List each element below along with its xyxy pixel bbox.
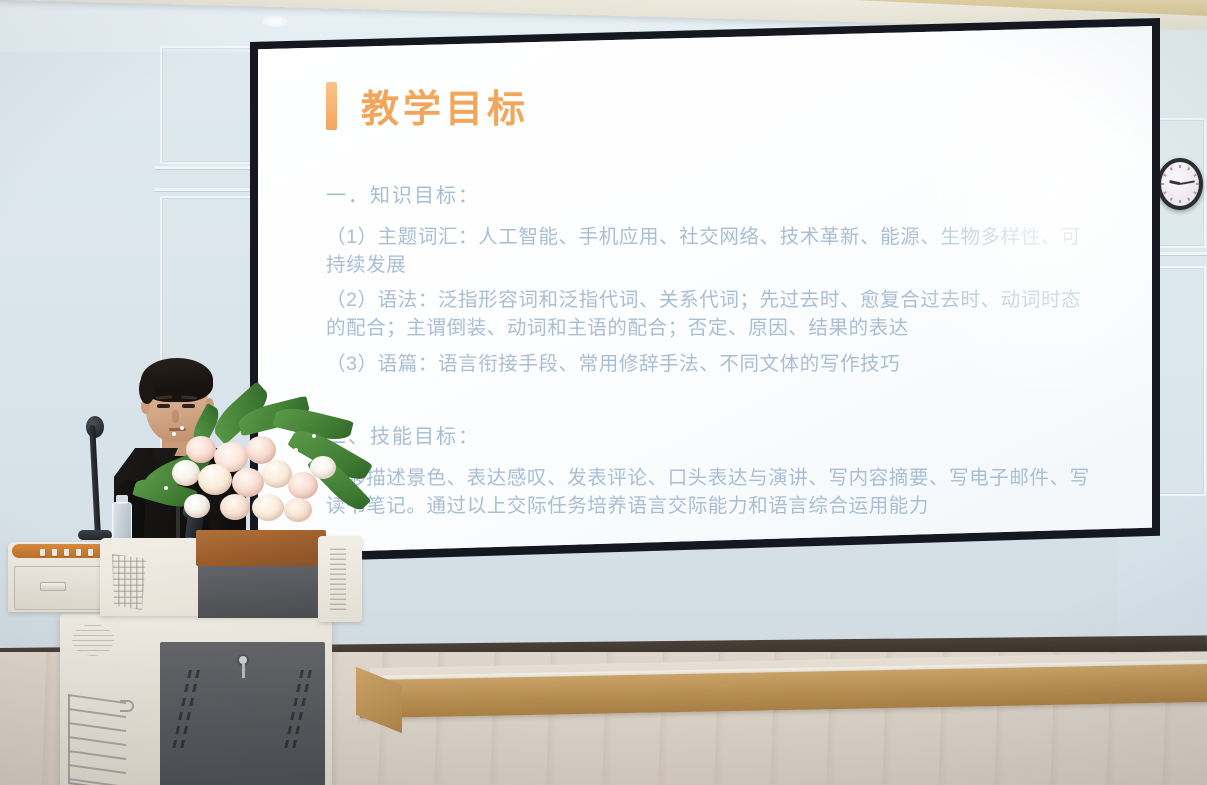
slide-body: 一．知识目标： （1）主题词汇：人工智能、手机应用、社交网络、技术革新、能源、生… (326, 179, 1094, 521)
rose-bloom (232, 468, 264, 497)
podium-control-panel[interactable] (12, 544, 112, 558)
podium-drawer-handle[interactable] (40, 582, 66, 591)
clock-face (1161, 162, 1199, 206)
slide-title-row: 教学目标 (326, 78, 1094, 133)
projection-screen[interactable]: 教学目标 一．知识目标： （1）主题词汇：人工智能、手机应用、社交网络、技术革新… (258, 26, 1152, 554)
clock-tick (1187, 167, 1190, 171)
podium-door-lock[interactable] (239, 656, 247, 664)
podium-basket-hook (120, 700, 134, 712)
slide-title: 教学目标 (361, 78, 529, 133)
filler-flower (294, 448, 298, 452)
filler-flower (324, 486, 328, 490)
clock-tick (1193, 174, 1197, 177)
filler-flower (280, 442, 284, 446)
knowledge-point-1: （1）主题词汇：人工智能、手机应用、社交网络、技术革新、能源、生物多样性、可持续… (326, 224, 1094, 279)
rose-bloom (184, 494, 210, 518)
wall-clock (1157, 158, 1203, 210)
rose-bloom (252, 494, 284, 521)
podium-door-lock-stem (242, 664, 245, 678)
section-heading-skills: 二、技能目标： (326, 420, 1094, 449)
podium-wood-planter (196, 530, 326, 566)
rose-bloom (284, 498, 312, 522)
wall-moulding-panel (160, 46, 258, 164)
clock-tick (1193, 191, 1197, 194)
clock-tick (1163, 191, 1167, 194)
clock-tick (1179, 200, 1181, 203)
filler-flower (180, 426, 184, 430)
podium-control-button[interactable] (88, 549, 93, 556)
presentation-slide: 教学目标 一．知识目标： （1）主题词汇：人工智能、手机应用、社交网络、技术革新… (258, 26, 1152, 554)
podium-wire-basket (68, 694, 126, 785)
clock-tick (1179, 165, 1181, 168)
podium-side-vent (72, 624, 114, 656)
rose-bloom (310, 456, 336, 479)
section-heading-knowledge: 一．知识目标： (326, 179, 1094, 208)
podium-control-button[interactable] (76, 549, 81, 556)
lecture-hall-photo: 教学目标 一．知识目标： （1）主题词汇：人工智能、手机应用、社交网络、技术革新… (0, 0, 1207, 785)
flower-arrangement (128, 398, 388, 543)
wall-moulding-line (155, 188, 260, 191)
rose-bloom (186, 436, 216, 463)
podium-control-button[interactable] (64, 549, 69, 556)
clock-hour-hand (1169, 180, 1180, 185)
clock-tick (1187, 197, 1190, 201)
section-spacer (326, 388, 1094, 420)
clock-tick (1163, 174, 1167, 177)
multimedia-podium (0, 530, 380, 785)
title-accent-bar (326, 82, 337, 130)
clock-tick (1196, 183, 1199, 185)
ceiling-downlight (262, 16, 288, 27)
rose-bloom (172, 460, 200, 486)
filler-flower (172, 432, 176, 436)
rose-bloom (198, 464, 232, 495)
clock-tick (1170, 197, 1173, 201)
knowledge-point-3: （3）语篇：语言衔接手段、常用修辞手法、不同文体的写作技巧 (326, 351, 1094, 379)
filler-flower (312, 434, 316, 438)
presenter-hair (141, 358, 213, 402)
clock-minute-hand (1180, 180, 1195, 185)
clock-tick (1161, 183, 1164, 185)
wall-moulding-line (155, 166, 260, 169)
rose-bloom (220, 494, 250, 520)
podium-front-panel-upper (198, 566, 320, 618)
clock-tick (1170, 167, 1173, 171)
podium-right-speaker-grille (330, 548, 346, 610)
filler-flower (164, 486, 168, 490)
skills-point-1: 能够描述景色、表达感叹、发表评论、口头表达与演讲、写内容摘要、写电子邮件、写读书… (326, 465, 1094, 520)
podium-control-button[interactable] (52, 549, 57, 556)
knowledge-point-2: （2）语法：泛指形容词和泛指代词、关系代词；先过去时、愈复合过去时、动词时态的配… (326, 287, 1094, 342)
podium-speaker-grille (112, 554, 146, 610)
podium-control-button[interactable] (40, 549, 45, 556)
